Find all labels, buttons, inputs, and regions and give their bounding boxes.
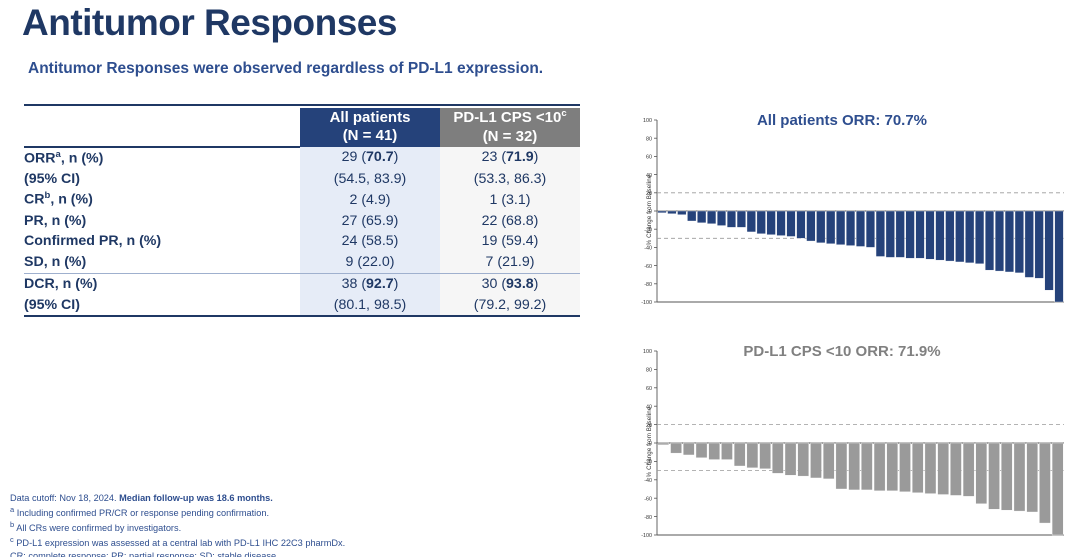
- cell-orr-cps: 23 (71.9): [440, 147, 580, 169]
- svg-text:-100: -100: [641, 300, 652, 306]
- table-header-row: All patients (N = 41) PD-L1 CPS <10c (N …: [24, 108, 580, 147]
- chart-title-pdl1-cps: PD-L1 CPS <10 ORR: 71.9%: [612, 343, 1072, 360]
- cell-sd-all: 9 (22.0): [300, 252, 440, 273]
- svg-text:80: 80: [646, 136, 652, 142]
- row-label-orr-text: ORR: [24, 150, 56, 166]
- svg-text:20: 20: [646, 191, 652, 197]
- row-label-orr-suffix: , n (%): [61, 150, 104, 166]
- cell-cr-all: 2 (4.9): [300, 189, 440, 210]
- page-subtitle: Antitumor Responses were observed regard…: [28, 60, 543, 78]
- page-title: Antitumor Responses: [22, 2, 397, 44]
- footnote-b: b All CRs were confirmed by investigator…: [10, 520, 345, 535]
- svg-text:80: 80: [646, 368, 652, 374]
- footnote-c: c PD-L1 expression was assessed at a cen…: [10, 535, 345, 550]
- svg-text:-60: -60: [644, 264, 652, 270]
- header-label-cell: [24, 108, 300, 147]
- svg-text:60: 60: [646, 155, 652, 161]
- svg-text:0: 0: [649, 441, 652, 447]
- cell-dcr-cps: 30 (93.8): [440, 274, 580, 295]
- chart-all-patients-waterfall: All patients ORR: 70.7% % Change from Ba…: [612, 102, 1072, 317]
- table-row: (95% CI) (80.1, 98.5) (79.2, 99.2): [24, 295, 580, 317]
- table-row: DCR, n (%) 38 (92.7) 30 (93.8): [24, 274, 580, 295]
- header-pdl1-cps-superscript: c: [561, 108, 566, 119]
- svg-text:40: 40: [646, 173, 652, 179]
- chart-svg-all-patients: 100806040200-20-40-60-80-100: [612, 102, 1072, 317]
- svg-text:-80: -80: [644, 282, 652, 288]
- svg-text:20: 20: [646, 423, 652, 429]
- chart-svg-pdl1-cps: 100806040200-20-40-60-80-100: [612, 333, 1072, 551]
- header-pdl1-cps-line1: PD-L1 CPS <10: [453, 109, 561, 126]
- chart-pdl1-cps-waterfall: PD-L1 CPS <10 ORR: 71.9% % Change from B…: [612, 333, 1072, 551]
- svg-text:-40: -40: [644, 246, 652, 252]
- row-label-dcr-ci: (95% CI): [24, 295, 300, 317]
- footnote-a: a Including confirmed PR/CR or response …: [10, 505, 345, 520]
- row-label-dcr: DCR, n (%): [24, 274, 300, 295]
- cell-orr-all: 29 (70.7): [300, 147, 440, 169]
- table-row: SD, n (%) 9 (22.0) 7 (21.9): [24, 252, 580, 273]
- table-row: PR, n (%) 27 (65.9) 22 (68.8): [24, 211, 580, 232]
- table-bottom-rule: [24, 316, 580, 319]
- header-all-patients-line1: All patients: [330, 109, 411, 126]
- cell-dcr-all: 38 (92.7): [300, 274, 440, 295]
- cell-dcr-ci-cps: (79.2, 99.2): [440, 295, 580, 317]
- row-label-confirmed-pr: Confirmed PR, n (%): [24, 231, 300, 252]
- row-label-cr-suffix: , n (%): [50, 192, 93, 208]
- cell-cr-cps: 1 (3.1): [440, 189, 580, 210]
- chart-title-all-patients: All patients ORR: 70.7%: [612, 112, 1072, 129]
- svg-text:-80: -80: [644, 515, 652, 521]
- cell-orr-ci-cps: (53.3, 86.3): [440, 169, 580, 190]
- row-label-cr: CRb, n (%): [24, 189, 300, 210]
- cell-pr-all: 27 (65.9): [300, 211, 440, 232]
- antitumor-response-table: All patients (N = 41) PD-L1 CPS <10c (N …: [24, 104, 580, 319]
- svg-text:-60: -60: [644, 496, 652, 502]
- footnotes-block: Data cutoff: Nov 18, 2024. Median follow…: [10, 492, 345, 557]
- footnote-abbreviations: CR: complete response; PR: partial respo…: [10, 550, 345, 557]
- cell-confirmed-pr-all: 24 (58.5): [300, 231, 440, 252]
- row-label-sd: SD, n (%): [24, 252, 300, 273]
- svg-text:0: 0: [649, 209, 652, 215]
- table-row: (95% CI) (54.5, 83.9) (53.3, 86.3): [24, 169, 580, 190]
- header-pdl1-cps-line2: (N = 32): [483, 128, 538, 145]
- footnote-data-cutoff: Data cutoff: Nov 18, 2024. Median follow…: [10, 492, 345, 505]
- results-table-container: All patients (N = 41) PD-L1 CPS <10c (N …: [24, 104, 580, 319]
- table-row: CRb, n (%) 2 (4.9) 1 (3.1): [24, 189, 580, 210]
- table-row: ORRa, n (%) 29 (70.7) 23 (71.9): [24, 147, 580, 169]
- slide-root: Antitumor Responses Antitumor Responses …: [0, 0, 1080, 557]
- cell-orr-ci-all: (54.5, 83.9): [300, 169, 440, 190]
- svg-text:-40: -40: [644, 478, 652, 484]
- header-pdl1-cps: PD-L1 CPS <10c (N = 32): [440, 108, 580, 147]
- header-all-patients: All patients (N = 41): [300, 108, 440, 147]
- header-all-patients-line2: (N = 41): [343, 127, 398, 144]
- table-row: Confirmed PR, n (%) 24 (58.5) 19 (59.4): [24, 231, 580, 252]
- row-label-cr-text: CR: [24, 192, 45, 208]
- cell-confirmed-pr-cps: 19 (59.4): [440, 231, 580, 252]
- svg-text:60: 60: [646, 386, 652, 392]
- svg-text:-100: -100: [641, 533, 652, 539]
- cell-pr-cps: 22 (68.8): [440, 211, 580, 232]
- row-label-orr-ci: (95% CI): [24, 169, 300, 190]
- row-label-orr: ORRa, n (%): [24, 147, 300, 169]
- svg-text:-20: -20: [644, 460, 652, 466]
- cell-dcr-ci-all: (80.1, 98.5): [300, 295, 440, 317]
- cell-sd-cps: 7 (21.9): [440, 252, 580, 273]
- row-label-pr: PR, n (%): [24, 211, 300, 232]
- svg-text:-20: -20: [644, 227, 652, 233]
- svg-text:40: 40: [646, 404, 652, 410]
